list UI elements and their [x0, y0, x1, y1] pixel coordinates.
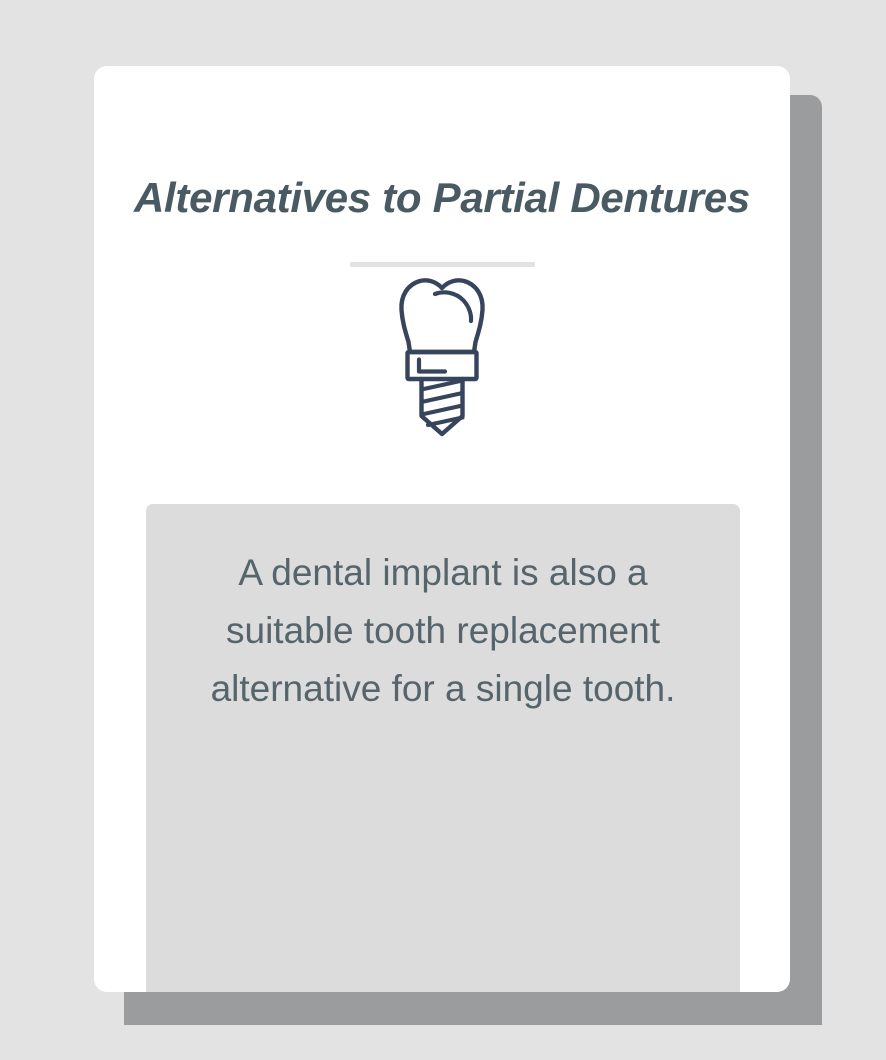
content-card: Alternatives to Partial Dentures [94, 66, 790, 992]
body-text: A dental implant is also a suitable toot… [176, 544, 710, 718]
page-title: Alternatives to Partial Dentures [94, 174, 790, 222]
slide-canvas: Alternatives to Partial Dentures [0, 0, 886, 1060]
body-text-panel: A dental implant is also a suitable toot… [146, 504, 740, 992]
dental-implant-icon [392, 274, 492, 444]
title-divider [350, 262, 535, 267]
